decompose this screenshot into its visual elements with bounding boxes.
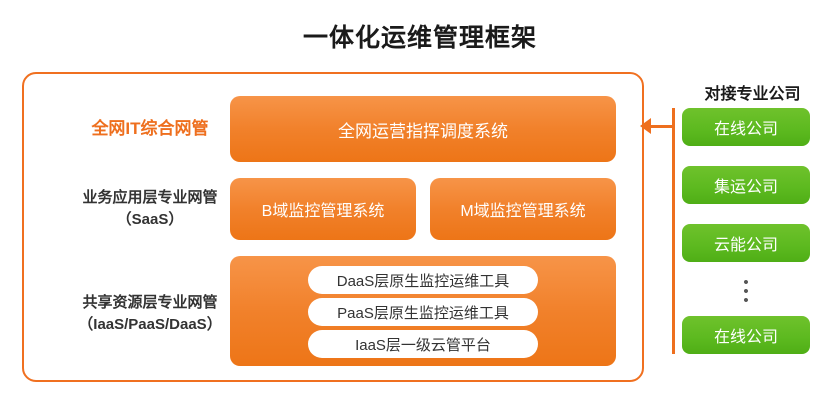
- company-item-0[interactable]: 在线公司: [682, 108, 810, 146]
- company-item-3[interactable]: 在线公司: [682, 316, 810, 354]
- pill-iaas-platform[interactable]: IaaS层一级云管平台: [308, 330, 538, 358]
- framework-panel: 全网IT综合网管 全网运营指挥调度系统 业务应用层专业网管 （SaaS） B域监…: [22, 72, 644, 382]
- block-全网运营指挥调度系统[interactable]: 全网运营指挥调度系统: [230, 96, 616, 162]
- ellipsis-icon: •••: [682, 278, 810, 305]
- row-label-saas-line2: （SaaS）: [54, 209, 246, 231]
- pill-daas-tool[interactable]: DaaS层原生监控运维工具: [308, 266, 538, 294]
- page-title: 一体化运维管理框架: [0, 18, 840, 54]
- company-item-2[interactable]: 云能公司: [682, 224, 810, 262]
- diagram-root: 一体化运维管理框架 全网IT综合网管 全网运营指挥调度系统 业务应用层专业网管 …: [0, 0, 840, 408]
- row-label-shared-line2: （IaaS/PaaS/DaaS）: [54, 314, 246, 336]
- block-shared-resource-layer: DaaS层原生监控运维工具 PaaS层原生监控运维工具 IaaS层一级云管平台: [230, 256, 616, 366]
- block-b域监控管理系统[interactable]: B域监控管理系统: [230, 178, 416, 240]
- pill-paas-tool[interactable]: PaaS层原生监控运维工具: [308, 298, 538, 326]
- row-label-iaas-paas-daas: 共享资源层专业网管 （IaaS/PaaS/DaaS）: [54, 292, 246, 336]
- block-m域监控管理系统[interactable]: M域监控管理系统: [430, 178, 616, 240]
- company-item-1[interactable]: 集运公司: [682, 166, 810, 204]
- right-column-title: 对接专业公司: [680, 80, 825, 104]
- row-label-saas: 业务应用层专业网管 （SaaS）: [54, 187, 246, 231]
- row-label-it-network-management: 全网IT综合网管: [54, 118, 246, 140]
- row-label-saas-line1: 业务应用层专业网管: [54, 187, 246, 209]
- row-label-shared-line1: 共享资源层专业网管: [54, 292, 246, 314]
- right-column-vertical-line: [672, 108, 675, 354]
- connector-arrow-icon: [640, 118, 651, 134]
